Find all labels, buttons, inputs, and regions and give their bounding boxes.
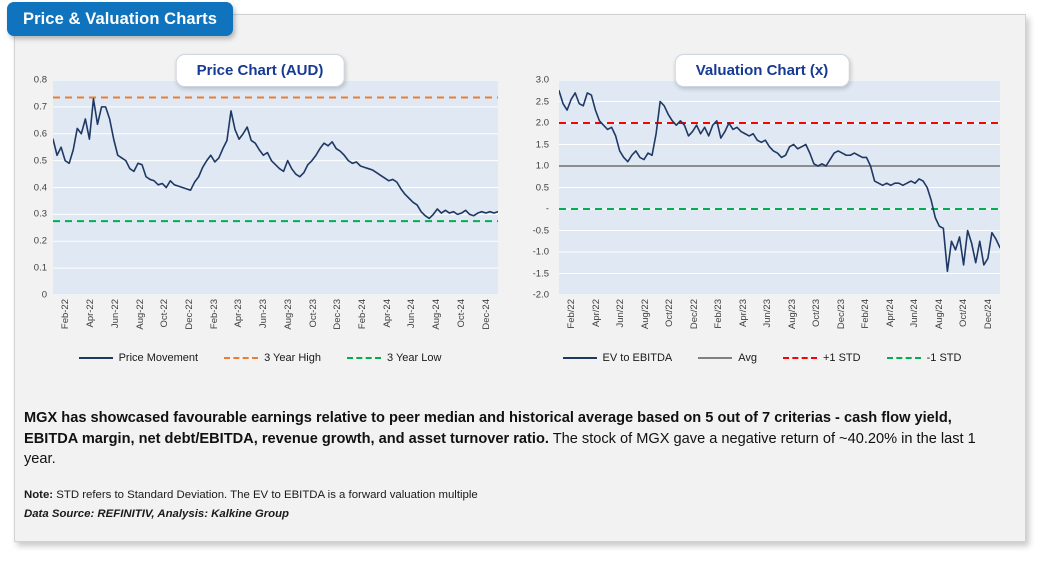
dash-orange-swatch [224,357,258,359]
solid-gray-swatch [698,357,732,359]
price-xtick: Jun-22 [110,299,121,328]
valuation-chart-reference-lines [559,123,1000,209]
ev-to-ebitda-line [559,91,1000,272]
val-ytick: 2.0 [536,118,549,129]
price-chart-plot-area [53,80,498,295]
notes-block: Note: STD refers to Standard Deviation. … [24,487,992,523]
price-xtick: Dec-22 [184,299,195,330]
dash-green-swatch [347,357,381,359]
valuation-chart-panel: Valuation Chart (x) 3.02.52.01.51.00.5--… [518,52,1006,392]
price-xtick: Aug-23 [283,299,294,330]
val-xtick: Oct/23 [811,299,822,327]
price-chart-panel: Price Chart (AUD) 0.80.70.60.50.40.30.20… [16,52,504,392]
val-ytick: -0.5 [533,225,549,236]
valuation-plot-wrap: 3.02.52.01.51.00.5--0.5-1.0-1.5-2.0 Feb/… [518,80,1006,308]
commentary-text: MGX has showcased favourable earnings re… [24,408,992,470]
val-xtick: Dec/23 [836,299,847,329]
price-xtick: Jun-23 [258,299,269,328]
val-xtick: Feb/24 [860,299,871,329]
legend-label: Avg [738,352,757,364]
price-ytick: 0.1 [34,263,47,274]
note-text: STD refers to Standard Deviation. The EV… [53,489,478,501]
price-ytick: 0.4 [34,182,47,193]
val-xtick: Feb/23 [713,299,724,329]
price-ytick: 0.6 [34,128,47,139]
solid-navy-swatch [79,357,113,359]
legend-item[interactable]: 3 Year High [224,352,321,364]
val-xtick: Aug/22 [640,299,651,329]
valuation-chart-legend: EV to EBITDAAvg+1 STD-1 STD [518,352,1006,364]
note-label: Note: [24,489,53,501]
val-ytick: 3.0 [536,75,549,86]
price-chart-y-axis: 0.80.70.60.50.40.30.20.10 [16,80,50,295]
price-xtick: Aug-24 [431,299,442,330]
panel-header-tab: Price & Valuation Charts [7,2,233,36]
val-xtick: Aug/23 [787,299,798,329]
legend-label: 3 Year High [264,352,321,364]
price-ytick: 0.3 [34,209,47,220]
price-chart-x-axis: Feb-22Apr-22Jun-22Aug-22Oct-22Dec-22Feb-… [16,296,504,358]
val-xtick: Dec/24 [983,299,994,329]
price-chart-gridlines [53,80,498,295]
legend-label: -1 STD [927,352,962,364]
legend-item[interactable]: EV to EBITDA [563,352,673,364]
legend-item[interactable]: Avg [698,352,757,364]
val-ytick: 0.5 [536,182,549,193]
val-ytick: 1.0 [536,161,549,172]
price-xtick: Apr-22 [85,299,96,328]
price-ytick: 0.5 [34,155,47,166]
val-xtick: Aug/24 [934,299,945,329]
val-ytick: -1.0 [533,247,549,258]
val-xtick: Oct/22 [664,299,675,327]
val-xtick: Feb/22 [566,299,577,329]
price-ytick: 0.7 [34,101,47,112]
price-xtick: Dec-24 [481,299,492,330]
price-plot-wrap: 0.80.70.60.50.40.30.20.10 Feb-22Apr-22Ju… [16,80,504,308]
price-xtick: Oct-23 [308,299,319,328]
price-xtick: Dec-23 [332,299,343,330]
val-xtick: Oct/24 [958,299,969,327]
data-source-line: Data Source: REFINITIV, Analysis: Kalkin… [24,506,992,524]
price-chart-title: Price Chart (AUD) [176,54,345,87]
val-xtick: Jun/24 [909,299,920,328]
price-chart-reference-lines [53,97,498,221]
val-ytick: -1.5 [533,268,549,279]
price-xtick: Jun-24 [406,299,417,328]
val-ytick: 2.5 [536,96,549,107]
val-xtick: Jun/23 [762,299,773,328]
price-ytick: 0.8 [34,75,47,86]
price-movement-line [53,99,498,219]
price-xtick: Oct-24 [456,299,467,328]
note-line: Note: STD refers to Standard Deviation. … [24,487,992,505]
dash-green-swatch [887,357,921,359]
price-xtick: Oct-22 [159,299,170,328]
price-chart-svg [53,80,498,295]
legend-label: +1 STD [823,352,861,364]
legend-label: EV to EBITDA [603,352,673,364]
legend-label: Price Movement [119,352,198,364]
solid-navy-swatch [563,357,597,359]
price-xtick: Apr-24 [382,299,393,328]
price-xtick: Feb-24 [357,299,368,329]
legend-label: 3 Year Low [387,352,441,364]
price-ytick: 0.2 [34,236,47,247]
legend-item[interactable]: Price Movement [79,352,198,364]
legend-item[interactable]: 3 Year Low [347,352,441,364]
price-chart-legend: Price Movement3 Year High3 Year Low [16,352,504,364]
panel-header-title: Price & Valuation Charts [23,10,217,29]
price-xtick: Apr-23 [233,299,244,328]
val-ytick: 1.5 [536,139,549,150]
val-xtick: Dec/22 [689,299,700,329]
price-xtick: Feb-23 [209,299,220,329]
val-xtick: Jun/22 [615,299,626,328]
valuation-chart-x-axis: Feb/22Apr/22Jun/22Aug/22Oct/22Dec/22Feb/… [518,296,1006,358]
dash-red-swatch [783,357,817,359]
val-xtick: Apr/22 [591,299,602,327]
valuation-chart-title: Valuation Chart (x) [675,54,850,87]
price-xtick: Aug-22 [135,299,146,330]
legend-item[interactable]: -1 STD [887,352,962,364]
valuation-chart-gridlines [559,80,1000,295]
valuation-chart-plot-area [559,80,1000,295]
valuation-chart-y-axis: 3.02.52.01.51.00.5--0.5-1.0-1.5-2.0 [518,80,552,295]
legend-item[interactable]: +1 STD [783,352,861,364]
price-xtick: Feb-22 [60,299,71,329]
valuation-chart-svg [559,80,1000,295]
val-ytick: - [546,204,549,215]
val-xtick: Apr/23 [738,299,749,327]
val-xtick: Apr/24 [885,299,896,327]
screenshot-root: Price & Valuation Charts Price Chart (AU… [0,0,1043,568]
